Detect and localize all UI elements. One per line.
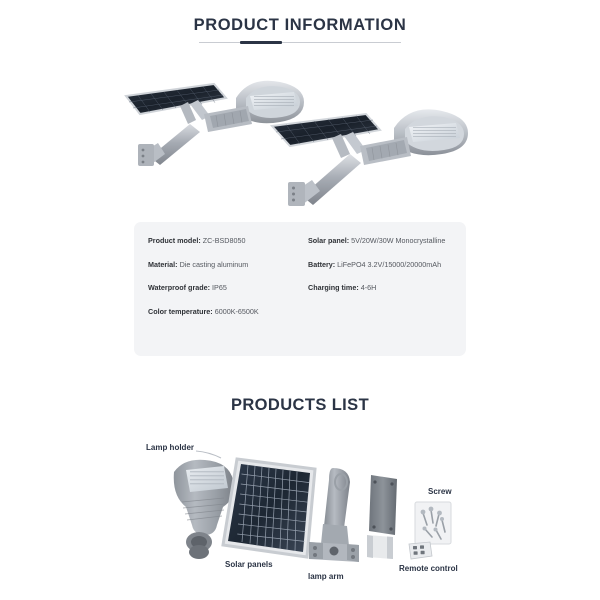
title-divider — [199, 42, 401, 43]
spec-label: Solar panel: — [308, 236, 349, 245]
spec-label: Charging time: — [308, 283, 359, 292]
product-photo-solar-street-light-2 — [268, 92, 488, 222]
spec-value: IP65 — [212, 283, 227, 292]
part-image-remote-control — [406, 540, 434, 562]
title-divider-accent — [240, 41, 282, 44]
specification-panel: Product model: ZC-BSD8050 Material: Die … — [134, 222, 466, 356]
spec-row: Solar panel: 5V/20W/30W Monocrystalline — [308, 236, 464, 245]
page-title-product-information: PRODUCT INFORMATION — [0, 16, 600, 35]
spec-row: Product model: ZC-BSD8050 — [148, 236, 308, 245]
spec-column-right: Solar panel: 5V/20W/30W Monocrystalline … — [308, 236, 464, 307]
hero2-lamp-head — [360, 109, 468, 165]
hero1-solar-panel — [126, 84, 226, 114]
spec-label: Material: — [148, 260, 178, 269]
spec-label: Product model: — [148, 236, 201, 245]
spec-value: ZC-BSD8050 — [203, 236, 246, 245]
part-image-lamp-arm — [303, 466, 363, 565]
part-image-mounting-plate — [363, 473, 405, 563]
part-label-lamp-holder: Lamp holder — [146, 443, 194, 452]
part-label-remote-control: Remote control — [399, 564, 458, 573]
spec-label: Waterproof grade: — [148, 283, 210, 292]
spec-value: 5V/20W/30W Monocrystalline — [351, 236, 445, 245]
spec-row: Battery: LiFePO4 3.2V/15000/20000mAh — [308, 260, 464, 269]
spec-label: Color temperature: — [148, 307, 213, 316]
spec-row: Color temperature: 6000K-6500K — [148, 307, 308, 316]
part-label-lamp-arm: lamp arm — [308, 572, 344, 581]
spec-value: Die casting aluminum — [180, 260, 249, 269]
page-title-products-list: PRODUCTS LIST — [0, 396, 600, 415]
part-label-screw: Screw — [428, 487, 452, 496]
spec-row: Charging time: 4-6H — [308, 283, 464, 292]
spec-value: LiFePO4 3.2V/15000/20000mAh — [337, 260, 441, 269]
product-information-page: PRODUCT INFORMATION — [0, 0, 600, 600]
spec-value: 6000K-6500K — [215, 307, 259, 316]
spec-column-left: Product model: ZC-BSD8050 Material: Die … — [148, 236, 308, 330]
spec-value: 4-6H — [361, 283, 377, 292]
hero2-solar-panel — [272, 114, 380, 146]
spec-row: Waterproof grade: IP65 — [148, 283, 308, 292]
spec-row: Material: Die casting aluminum — [148, 260, 308, 269]
spec-label: Battery: — [308, 260, 335, 269]
